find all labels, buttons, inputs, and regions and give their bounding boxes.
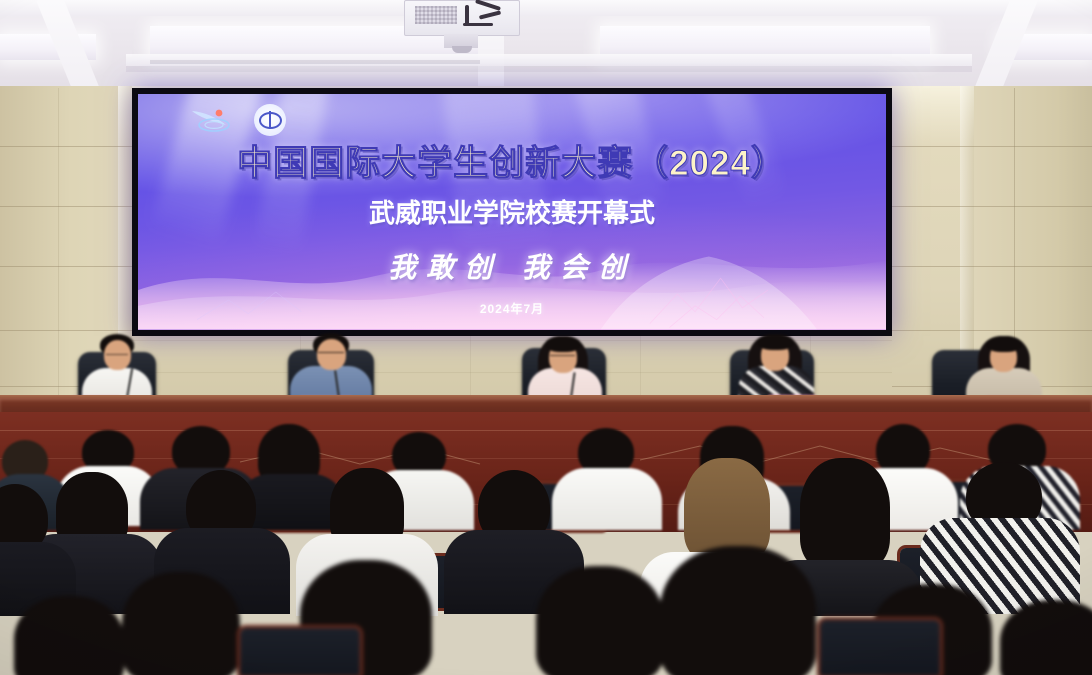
led-screen: 中国国际大学生创新大赛（2024） 武威职业学院校赛开幕式 我敢创 我会创 20… (132, 88, 892, 336)
screen-content: 中国国际大学生创新大赛（2024） 武威职业学院校赛开幕式 我敢创 我会创 20… (138, 94, 886, 330)
screen-title: 中国国际大学生创新大赛（2024） (237, 146, 787, 183)
conference-hall-photo: 中国国际大学生创新大赛（2024） 武威职业学院校赛开幕式 我敢创 我会创 20… (0, 0, 1092, 675)
ceiling (0, 0, 1092, 92)
screen-subtitle: 武威职业学院校赛开幕式 (369, 193, 655, 230)
ceiling-projector (404, 0, 520, 36)
screen-slogan: 我敢创 我会创 (388, 246, 636, 286)
projector-lens (452, 46, 472, 53)
screen-date: 2024年7月 (480, 300, 544, 317)
